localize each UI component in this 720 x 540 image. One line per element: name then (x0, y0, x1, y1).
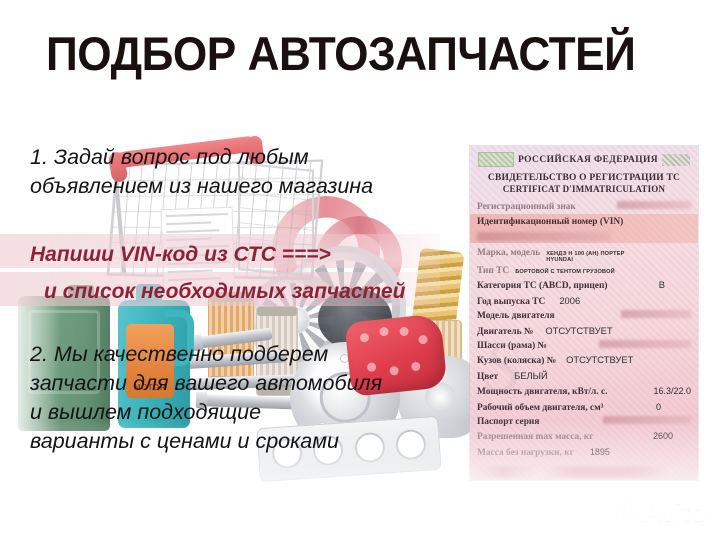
field-label: Идентификационный номер (VIN) (477, 215, 623, 229)
vin-callout-line-1: Напиши VIN-код из СТС ===> (30, 243, 331, 266)
field-label: Тип ТС (477, 264, 509, 278)
certificate-header: РОССИЙСКАЯ ФЕДЕРАЦИЯ (470, 146, 698, 169)
field-value: B (659, 278, 691, 292)
field-row-vin: Идентификационный номер (VIN) (470, 214, 698, 242)
step-2-line-2: запчасти для вашего автомобиля (30, 369, 382, 398)
field-row-body: Кузов (коляска) № ОТСУТСТВУЕТ (477, 353, 691, 368)
field-row-registration-plate: Регистрационный знак (477, 200, 691, 214)
guilloche-pattern (662, 154, 690, 166)
field-value: 2006 (551, 294, 580, 308)
avito-logo-icon (616, 502, 638, 524)
field-row-make-model: Марка, модель ХЕНДЭ Н 100 (АН) ПОРТЕР HY… (477, 246, 691, 264)
field-label: Год выпуска ТС (477, 295, 545, 309)
field-label: Модель двигателя (477, 309, 555, 323)
field-row-engine-displacement: Рабочий объем двигателя, см³ 0 (477, 400, 691, 415)
field-label: Цвет (477, 370, 498, 384)
field-row-category: Категория ТС (ABCD, прицеп) B (477, 278, 691, 293)
field-row-chassis: Шасси (рама) № (477, 339, 691, 353)
step-1-line-2: объявлением из нашего магазина (30, 172, 373, 201)
field-value-latin: HYUNDAI (546, 257, 624, 264)
redacted-value (617, 201, 691, 209)
field-value: ОТСУТСТВУЕТ (539, 324, 612, 338)
redacted-value (477, 232, 610, 241)
vin-callout: Напиши VIN-код из СТС ===> и список необ… (30, 236, 405, 310)
step-2-line-1: 2. Мы качественно подберем (30, 340, 382, 369)
field-value: 0 (656, 400, 691, 414)
step-2-line-3: и вышлем подходящие (30, 398, 382, 427)
promo-banner: MOTOR ПОДБОР АВТОЗАПЧАСТЕЙ 1. Задай вопр… (0, 0, 720, 540)
field-label: Мощность двигателя, кВт/л. с. (477, 385, 608, 399)
field-value: БОРТОВОЙ С ТЕНТОМ ГРУЗОВОЙ (515, 269, 615, 276)
certificate-heading-fr: CERTIFICAT D'IMMATRICULATION (470, 184, 698, 194)
field-row-color: Цвет БЕЛЫЙ (477, 369, 691, 384)
field-label: Регистрационный знак (477, 200, 576, 214)
step-2-line-4: варианты с ценами и сроками (30, 427, 382, 456)
field-row-engine-model: Модель двигателя (477, 309, 691, 323)
step-2-text: 2. Мы качественно подберем запчасти для … (30, 340, 382, 456)
step-1-line-1: 1. Задай вопрос под любым (30, 143, 373, 172)
field-label: Двигатель № (477, 325, 533, 339)
certificate-country: РОССИЙСКАЯ ФЕДЕРАЦИЯ (518, 155, 658, 165)
avito-watermark: Avito (616, 497, 707, 528)
field-value: БЕЛЫЙ (504, 369, 548, 383)
field-row-year: Год выпуска ТС 2006 (477, 294, 691, 309)
step-1-text: 1. Задай вопрос под любым объявлением из… (30, 143, 373, 201)
vin-callout-line-2: и список необходимых запчастей (30, 273, 405, 310)
certificate-heading-ru: СВИДЕТЕЛЬСТВО О РЕГИСТРАЦИИ ТС (470, 173, 698, 183)
field-label: Рабочий объем двигателя, см³ (477, 401, 603, 415)
avito-wordmark: Avito (643, 497, 707, 528)
field-label: Шасси (рама) № (477, 339, 547, 353)
field-value: ХЕНДЭ Н 100 (АН) ПОРТЕР (546, 251, 624, 258)
field-row-engine-power: Мощность двигателя, кВт/л. с. 16.3/22.0 (477, 384, 691, 399)
field-label: Кузов (коляска) № (477, 354, 556, 368)
page-title: ПОДБОР АВТОЗАПЧАСТЕЙ (46, 30, 635, 77)
redacted-value (621, 310, 691, 318)
field-label: Марка, модель (477, 246, 540, 260)
field-label: Категория ТС (ABCD, прицеп) (477, 279, 607, 293)
field-row-vehicle-type: Тип ТС БОРТОВОЙ С ТЕНТОМ ГРУЗОВОЙ (477, 264, 691, 278)
redacted-value (599, 340, 691, 348)
field-value: ОТСУТСТВУЕТ (562, 353, 633, 367)
field-value: 16.3/22.0 (653, 384, 691, 398)
field-row-engine-number: Двигатель № ОТСУТСТВУЕТ (477, 324, 691, 339)
coat-of-arms-icon (478, 152, 514, 167)
